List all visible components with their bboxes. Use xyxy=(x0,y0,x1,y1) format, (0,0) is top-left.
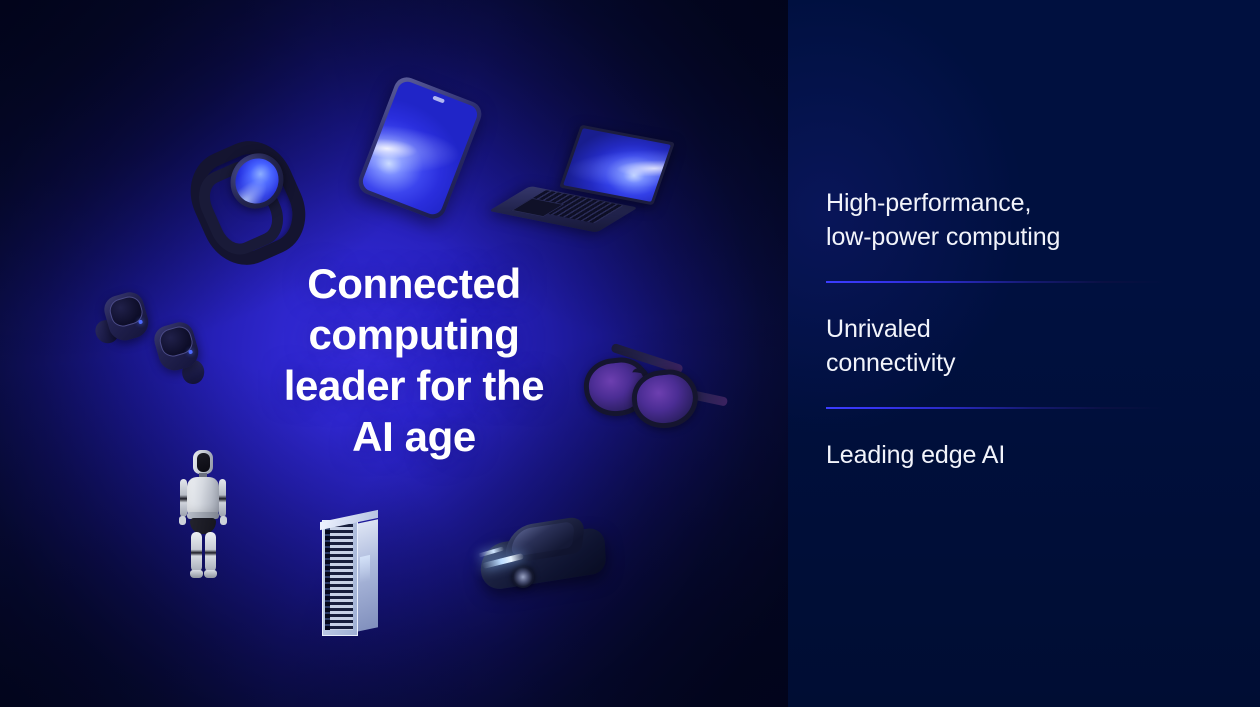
key-messages-list: High-performance, low-power computing Un… xyxy=(826,186,1166,472)
key-message-text: Unrivaled connectivity xyxy=(826,312,1166,380)
robot-leg-left xyxy=(191,532,202,572)
robot-arm-right xyxy=(219,479,226,517)
product-server-rack-image xyxy=(316,516,382,638)
product-humanoid-robot-image xyxy=(170,450,236,578)
key-message-text: Leading edge AI xyxy=(826,438,1166,472)
product-smartwatch-image xyxy=(190,138,290,242)
robot-hand-left xyxy=(179,516,186,525)
product-earbuds-image xyxy=(95,296,215,392)
product-smartphone-image xyxy=(355,74,485,223)
key-message-text: High-performance, low-power computing xyxy=(826,186,1166,254)
list-item: Unrivaled connectivity xyxy=(826,312,1166,380)
list-item: Leading edge AI xyxy=(826,438,1166,472)
robot-visor xyxy=(197,453,210,472)
key-messages-panel: High-performance, low-power computing Un… xyxy=(788,0,1260,707)
list-item: High-performance, low-power computing xyxy=(826,186,1166,254)
car-wheel-front xyxy=(512,566,534,588)
presentation-slide: Connected computing leader for the AI ag… xyxy=(0,0,1260,707)
product-smart-glasses-image xyxy=(582,346,722,434)
robot-foot-right xyxy=(204,570,217,578)
robot-leg-right xyxy=(205,532,216,572)
server-side-highlight xyxy=(360,555,370,583)
robot-arm-left xyxy=(180,479,187,517)
robot-foot-left xyxy=(190,570,203,578)
slide-headline: Connected computing leader for the AI ag… xyxy=(268,258,560,462)
robot-hand-right xyxy=(220,516,227,525)
robot-torso xyxy=(187,477,219,517)
product-showcase-panel: Connected computing leader for the AI ag… xyxy=(0,0,788,707)
list-divider xyxy=(826,281,1166,283)
list-divider xyxy=(826,407,1166,409)
server-status-strip xyxy=(325,524,330,630)
product-electric-car-image xyxy=(476,508,616,604)
product-laptop-image xyxy=(530,132,662,246)
